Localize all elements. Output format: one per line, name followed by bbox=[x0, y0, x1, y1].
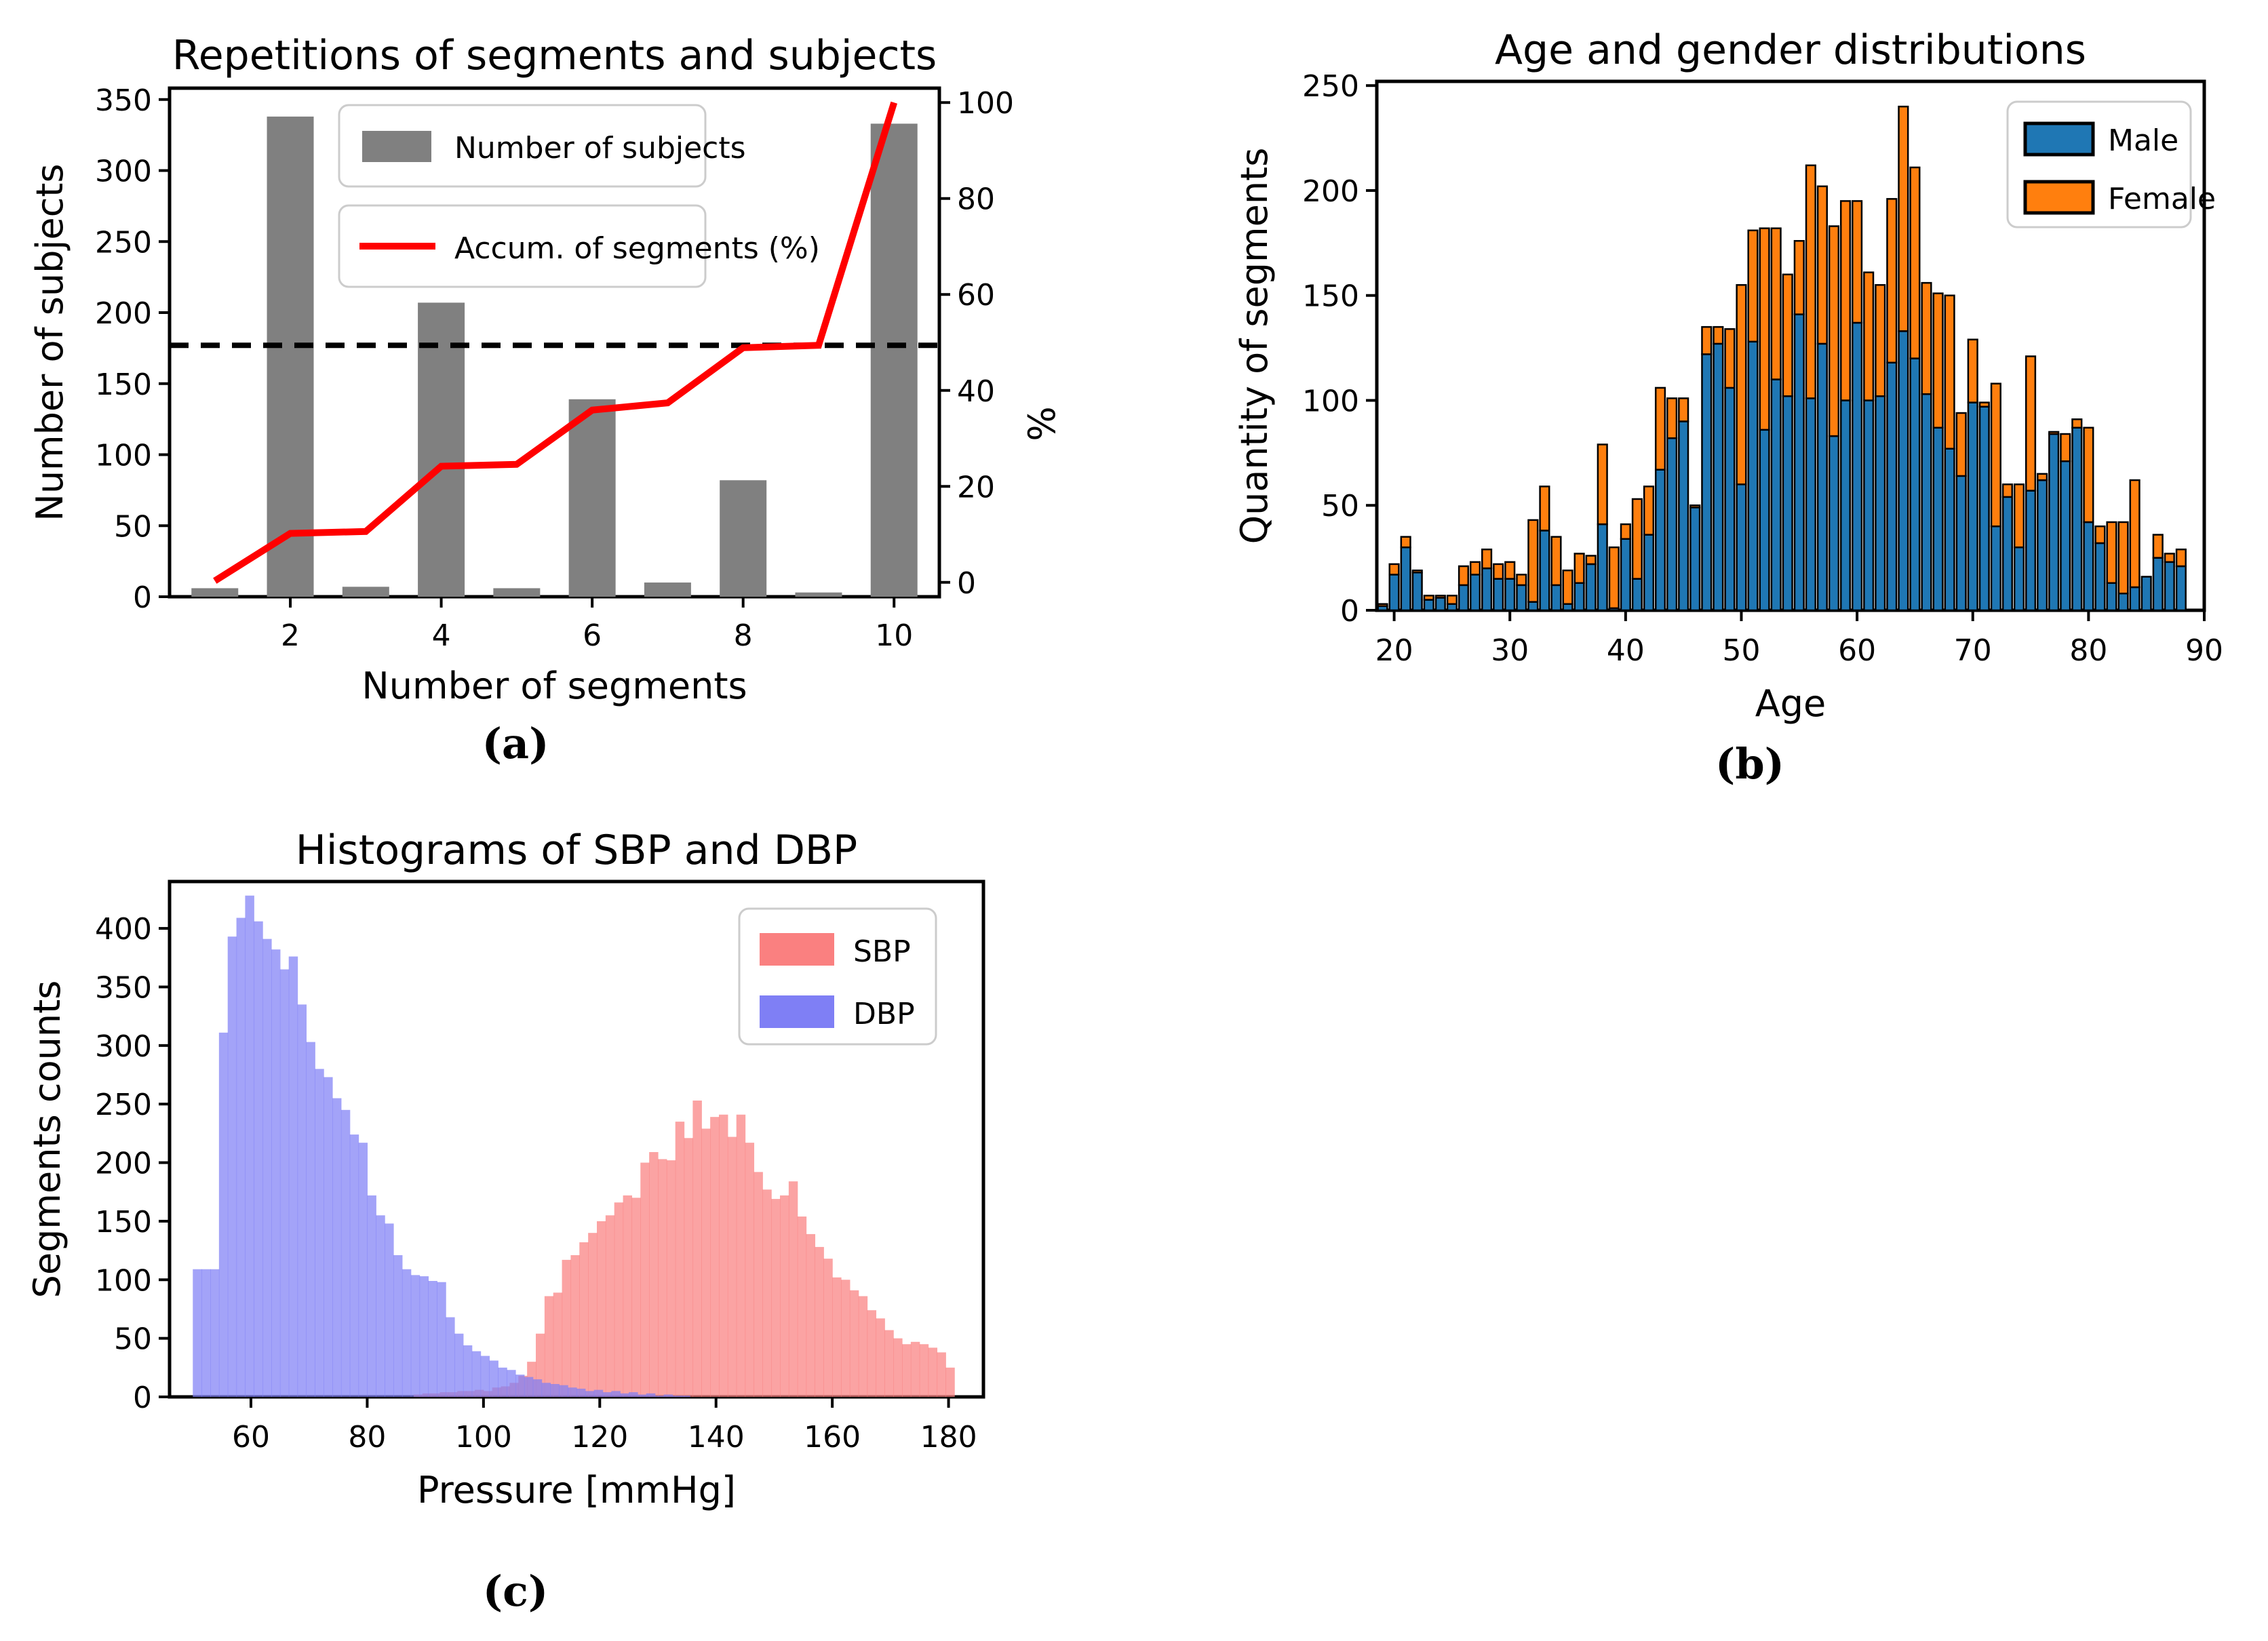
bar-male bbox=[1748, 342, 1758, 610]
y2-tick-label: 80 bbox=[957, 182, 995, 217]
hist-bin-sbp bbox=[762, 1189, 771, 1397]
bar-female bbox=[1690, 505, 1700, 507]
hist-bin-dbp bbox=[332, 1099, 341, 1397]
panel-c-svg: Histograms of SBP and DBP608010012014016… bbox=[0, 800, 1099, 1641]
x-tick-label: 120 bbox=[571, 1420, 628, 1455]
hist-bin-dbp bbox=[603, 1392, 612, 1397]
bar-female bbox=[2176, 549, 2186, 566]
bar-female bbox=[2014, 484, 2024, 547]
bar-female bbox=[1841, 201, 1850, 400]
legend-swatch-subjects bbox=[362, 131, 431, 162]
bar-female bbox=[1772, 229, 1781, 380]
bar-male bbox=[2014, 547, 2024, 610]
hist-bin-dbp bbox=[359, 1143, 368, 1397]
x-tick-label: 160 bbox=[804, 1420, 861, 1455]
hist-bin-dbp bbox=[271, 949, 280, 1397]
bar-male bbox=[1540, 530, 1550, 610]
bar-female bbox=[2037, 474, 2047, 480]
hist-bin-sbp bbox=[859, 1296, 867, 1397]
bar-female bbox=[1980, 403, 1989, 407]
hist-bin-sbp bbox=[728, 1137, 737, 1397]
hist-bin-dbp bbox=[437, 1282, 446, 1397]
bar-female bbox=[1529, 520, 1538, 602]
panel-b-xlabel: Age bbox=[1755, 682, 1826, 725]
hist-bin-dbp bbox=[524, 1377, 533, 1397]
hist-bin-dbp bbox=[620, 1393, 629, 1397]
bar-male bbox=[1911, 359, 1920, 610]
bar-male bbox=[1945, 449, 1955, 610]
bar-subjects bbox=[493, 588, 540, 597]
y2-tick-label: 20 bbox=[957, 470, 995, 505]
hist-bin-dbp bbox=[350, 1134, 359, 1397]
panel-c-legend-label-1: DBP bbox=[853, 997, 915, 1031]
bar-male bbox=[1390, 574, 1399, 610]
bar-male bbox=[1702, 354, 1711, 610]
hist-bin-dbp bbox=[262, 939, 271, 1397]
bar-female bbox=[1725, 329, 1735, 388]
hist-bin-sbp bbox=[570, 1255, 579, 1397]
bar-female bbox=[2096, 526, 2105, 543]
panel-b-ylabel: Quantity of segments bbox=[1233, 148, 1276, 545]
bar-male bbox=[1772, 380, 1781, 610]
bar-male bbox=[2060, 461, 2070, 610]
x-tick-label: 60 bbox=[1838, 633, 1876, 668]
bar-female bbox=[1945, 296, 1955, 449]
bar-female bbox=[1598, 444, 1607, 524]
hist-bin-dbp bbox=[402, 1269, 411, 1397]
panel-a-y2label: % bbox=[1021, 406, 1063, 441]
bar-female bbox=[2165, 553, 2174, 561]
bar-male bbox=[1424, 600, 1434, 610]
hist-bin-dbp bbox=[228, 936, 237, 1397]
bar-male bbox=[2096, 543, 2105, 610]
bar-male bbox=[1447, 604, 1457, 610]
bar-female bbox=[1436, 595, 1445, 597]
x-tick-label: 180 bbox=[920, 1420, 977, 1455]
bar-female bbox=[1806, 165, 1816, 399]
bar-male bbox=[1829, 436, 1839, 610]
y-tick-label: 200 bbox=[95, 1147, 152, 1181]
bar-male bbox=[1968, 403, 1978, 610]
bar-male bbox=[1934, 428, 1943, 610]
hist-bin-dbp bbox=[489, 1360, 498, 1397]
bar-female bbox=[1922, 283, 1932, 394]
hist-bin-dbp bbox=[193, 1269, 201, 1397]
bar-female bbox=[1818, 186, 1827, 344]
bar-male bbox=[1737, 484, 1746, 610]
bar-male bbox=[2142, 576, 2151, 610]
panel-a-svg: Repetitions of segments and subjects2468… bbox=[0, 0, 1099, 800]
bar-female bbox=[1401, 537, 1411, 547]
hist-bin-sbp bbox=[876, 1318, 884, 1397]
bar-male bbox=[1887, 363, 1896, 610]
bar-male bbox=[1656, 470, 1665, 610]
bar-female bbox=[1957, 413, 1966, 476]
hist-bin-dbp bbox=[559, 1385, 568, 1397]
bar-male bbox=[1482, 568, 1491, 610]
hist-bin-sbp bbox=[806, 1234, 815, 1397]
bar-subjects bbox=[569, 399, 616, 597]
hist-bin-sbp bbox=[867, 1310, 876, 1397]
y-tick-label: 100 bbox=[1302, 384, 1359, 418]
hist-bin-sbp bbox=[945, 1368, 954, 1397]
hist-bin-sbp bbox=[754, 1172, 762, 1397]
hist-bin-sbp bbox=[614, 1202, 623, 1397]
bar-female bbox=[1575, 553, 1584, 582]
hist-bin-sbp bbox=[780, 1195, 789, 1397]
bar-subjects bbox=[644, 582, 691, 597]
hist-bin-dbp bbox=[672, 1396, 681, 1397]
bar-male bbox=[1552, 585, 1561, 610]
x-tick-label: 2 bbox=[281, 618, 300, 653]
hist-bin-sbp bbox=[928, 1347, 937, 1397]
y-tick-label: 100 bbox=[95, 1263, 152, 1298]
hist-bin-dbp bbox=[280, 970, 289, 1397]
bar-male bbox=[2130, 587, 2140, 610]
panel-b-svg: Age and gender distributions203040506070… bbox=[1194, 0, 2268, 848]
y-tick-label: 150 bbox=[95, 368, 152, 402]
y-tick-label: 350 bbox=[95, 83, 152, 118]
hist-bin-dbp bbox=[550, 1384, 559, 1397]
hist-bin-sbp bbox=[692, 1101, 701, 1397]
hist-bin-sbp bbox=[815, 1247, 823, 1397]
panel-a-ylabel: Number of subjects bbox=[28, 163, 71, 521]
panel-c-title: Histograms of SBP and DBP bbox=[296, 827, 858, 874]
hist-bin-sbp bbox=[579, 1242, 588, 1397]
bar-male bbox=[1852, 323, 1862, 610]
bar-female bbox=[2003, 484, 2012, 497]
hist-bin-dbp bbox=[411, 1275, 420, 1397]
hist-bin-sbp bbox=[640, 1163, 649, 1397]
bar-female bbox=[1482, 549, 1491, 568]
legend-swatch-sbp bbox=[760, 933, 834, 966]
bar-male bbox=[2176, 566, 2186, 610]
hist-bin-dbp bbox=[446, 1318, 454, 1397]
bar-female bbox=[2107, 522, 2117, 583]
bar-female bbox=[1934, 294, 1943, 428]
x-tick-label: 80 bbox=[348, 1420, 386, 1455]
hist-bin-sbp bbox=[562, 1260, 571, 1397]
hist-bin-sbp bbox=[701, 1128, 710, 1397]
bar-male bbox=[1644, 535, 1654, 610]
x-tick-label: 8 bbox=[734, 618, 753, 653]
bar-subjects bbox=[267, 117, 314, 597]
bar-female bbox=[1968, 340, 1978, 403]
bar-male bbox=[1598, 524, 1607, 610]
panel-b-title: Age and gender distributions bbox=[1495, 26, 2086, 74]
bar-female bbox=[1748, 231, 1758, 342]
bar-male bbox=[1459, 585, 1468, 610]
x-tick-label: 70 bbox=[1954, 633, 1992, 668]
bar-female bbox=[1679, 398, 1688, 421]
bar-male bbox=[1436, 597, 1445, 610]
bar-male bbox=[2026, 491, 2035, 610]
panel-caption-c: (c) bbox=[448, 1566, 583, 1616]
panel-a-legend-label-1: Accum. of segments (%) bbox=[454, 231, 820, 266]
bar-male bbox=[2049, 434, 2058, 610]
hist-bin-sbp bbox=[902, 1344, 911, 1397]
bar-male bbox=[1922, 394, 1932, 610]
y2-tick-label: 60 bbox=[957, 278, 995, 313]
bar-male bbox=[1806, 398, 1816, 610]
panel-c-xlabel: Pressure [mmHg] bbox=[417, 1469, 736, 1511]
chart-panel-a: Repetitions of segments and subjects2468… bbox=[0, 0, 1099, 800]
panel-b-legend-label-1: Female bbox=[2108, 182, 2216, 216]
hist-bin-dbp bbox=[638, 1395, 646, 1397]
bar-male bbox=[2037, 480, 2047, 610]
bar-subjects bbox=[343, 587, 389, 597]
bar-female bbox=[1621, 524, 1630, 539]
hist-bin-dbp bbox=[576, 1389, 585, 1397]
bar-female bbox=[1783, 275, 1793, 397]
hist-bin-sbp bbox=[937, 1352, 945, 1397]
bar-female bbox=[1667, 398, 1677, 438]
hist-bin-sbp bbox=[832, 1278, 841, 1397]
bar-female bbox=[1737, 285, 1746, 484]
y-tick-label: 0 bbox=[133, 580, 152, 615]
bar-male bbox=[2072, 428, 2081, 610]
bar-female bbox=[2072, 419, 2081, 427]
y-tick-label: 250 bbox=[1302, 69, 1359, 104]
bar-subjects bbox=[871, 123, 918, 597]
chart-panel-b: Age and gender distributions203040506070… bbox=[1194, 0, 2268, 848]
x-tick-label: 140 bbox=[688, 1420, 745, 1455]
bar-male bbox=[1841, 400, 1850, 610]
bar-female bbox=[1829, 226, 1839, 437]
bar-female bbox=[1586, 556, 1596, 564]
hist-bin-dbp bbox=[515, 1375, 524, 1397]
hist-bin-dbp bbox=[454, 1334, 463, 1397]
y-tick-label: 50 bbox=[1321, 489, 1359, 523]
bar-female bbox=[1644, 486, 1654, 534]
y-tick-label: 300 bbox=[95, 1029, 152, 1064]
y-tick-label: 0 bbox=[1340, 594, 1359, 629]
bar-male bbox=[1957, 476, 1966, 610]
bar-female bbox=[2130, 480, 2140, 587]
hist-bin-dbp bbox=[237, 918, 246, 1397]
y2-tick-label: 0 bbox=[957, 566, 976, 601]
bar-male bbox=[1575, 583, 1584, 610]
hist-bin-dbp bbox=[498, 1368, 507, 1397]
bar-male bbox=[1679, 421, 1688, 610]
x-tick-label: 50 bbox=[1722, 633, 1760, 668]
bar-male bbox=[1621, 539, 1630, 610]
bar-male bbox=[2153, 558, 2163, 610]
hist-bin-sbp bbox=[658, 1159, 667, 1397]
hist-bin-dbp bbox=[664, 1395, 673, 1397]
figure-root: Repetitions of segments and subjects2468… bbox=[0, 0, 2268, 1641]
x-tick-label: 10 bbox=[875, 618, 913, 653]
hist-bin-dbp bbox=[420, 1276, 429, 1397]
hist-bin-sbp bbox=[719, 1115, 728, 1397]
hist-bin-dbp bbox=[481, 1356, 490, 1397]
bar-female bbox=[1424, 595, 1434, 599]
y-tick-label: 150 bbox=[95, 1205, 152, 1240]
bar-male bbox=[1875, 396, 1885, 610]
hist-bin-dbp bbox=[585, 1391, 594, 1397]
bar-male bbox=[1401, 547, 1411, 610]
bar-male bbox=[1517, 585, 1526, 610]
x-tick-label: 60 bbox=[232, 1420, 270, 1455]
hist-bin-dbp bbox=[646, 1393, 655, 1397]
hist-bin-sbp bbox=[798, 1217, 806, 1397]
hist-bin-sbp bbox=[649, 1152, 658, 1397]
bar-female bbox=[2119, 522, 2128, 593]
bar-male bbox=[1563, 604, 1573, 610]
legend-swatch-female bbox=[2025, 182, 2093, 213]
x-tick-label: 40 bbox=[1607, 633, 1645, 668]
hist-bin-dbp bbox=[393, 1255, 402, 1397]
bar-male bbox=[1795, 315, 1804, 610]
hist-bin-dbp bbox=[568, 1387, 576, 1397]
hist-bin-sbp bbox=[884, 1330, 893, 1397]
hist-bin-dbp bbox=[245, 896, 254, 1397]
bar-female bbox=[2084, 428, 2094, 522]
hist-bin-sbp bbox=[684, 1138, 693, 1397]
y-tick-label: 50 bbox=[114, 1322, 152, 1357]
x-tick-label: 100 bbox=[455, 1420, 512, 1455]
hist-bin-dbp bbox=[298, 1004, 307, 1397]
bar-female bbox=[1413, 570, 1422, 572]
y-tick-label: 150 bbox=[1302, 279, 1359, 314]
hist-bin-sbp bbox=[771, 1199, 780, 1397]
hist-bin-dbp bbox=[594, 1390, 603, 1397]
y-tick-label: 300 bbox=[95, 155, 152, 189]
hist-bin-sbp bbox=[789, 1181, 798, 1397]
panel-caption-a: (a) bbox=[448, 719, 583, 768]
bar-female bbox=[2049, 432, 2058, 434]
hist-bin-dbp bbox=[376, 1215, 385, 1397]
bar-female bbox=[1609, 547, 1619, 608]
hist-bin-dbp bbox=[210, 1269, 219, 1397]
bar-female bbox=[1459, 566, 1468, 585]
hist-bin-dbp bbox=[507, 1370, 515, 1397]
bar-male bbox=[1760, 430, 1770, 610]
bar-male bbox=[1505, 579, 1514, 610]
hist-bin-dbp bbox=[681, 1396, 690, 1397]
bar-male bbox=[2165, 562, 2174, 610]
panel-a-xlabel: Number of segments bbox=[361, 665, 747, 707]
bar-female bbox=[1887, 199, 1896, 362]
bar-male bbox=[1667, 438, 1677, 610]
panel-a-legend-label-0: Number of subjects bbox=[454, 131, 746, 165]
bar-male bbox=[2003, 497, 2012, 610]
bar-female bbox=[1760, 229, 1770, 430]
bar-female bbox=[1714, 327, 1723, 344]
hist-bin-dbp bbox=[472, 1351, 481, 1397]
hist-bin-sbp bbox=[667, 1160, 676, 1397]
bar-female bbox=[1390, 564, 1399, 574]
bar-male bbox=[1470, 574, 1480, 610]
bar-female bbox=[1795, 241, 1804, 314]
bar-male bbox=[2119, 593, 2128, 610]
bar-male bbox=[1725, 388, 1735, 610]
hist-bin-sbp bbox=[893, 1339, 902, 1397]
bar-female bbox=[1505, 562, 1514, 579]
hist-bin-sbp bbox=[737, 1115, 745, 1397]
hist-bin-dbp bbox=[655, 1396, 664, 1397]
y-tick-label: 400 bbox=[95, 912, 152, 947]
hist-bin-sbp bbox=[841, 1280, 850, 1397]
bar-female bbox=[1632, 499, 1642, 579]
hist-bin-dbp bbox=[201, 1269, 210, 1397]
bar-male bbox=[1632, 579, 1642, 610]
hist-bin-dbp bbox=[385, 1223, 393, 1397]
legend-swatch-dbp bbox=[760, 995, 834, 1028]
y-tick-label: 0 bbox=[133, 1381, 152, 1415]
bar-female bbox=[1864, 273, 1873, 401]
bar-male bbox=[1714, 344, 1723, 610]
hist-bin-dbp bbox=[428, 1281, 437, 1397]
bar-male bbox=[1864, 400, 1873, 610]
y-tick-label: 250 bbox=[95, 1088, 152, 1122]
bar-female bbox=[1911, 167, 1920, 359]
legend-swatch-male bbox=[2025, 123, 2093, 155]
hist-bin-sbp bbox=[545, 1296, 553, 1397]
bar-female bbox=[1470, 562, 1480, 575]
x-tick-label: 90 bbox=[2185, 633, 2223, 668]
bar-female bbox=[1552, 537, 1561, 585]
bar-male bbox=[1818, 344, 1827, 610]
bar-male bbox=[1899, 331, 1909, 610]
bar-female bbox=[2060, 434, 2070, 461]
hist-bin-sbp bbox=[588, 1233, 597, 1397]
panel-c-ylabel: Segments counts bbox=[26, 981, 69, 1299]
bar-female bbox=[1899, 106, 1909, 331]
hist-bin-dbp bbox=[306, 1042, 315, 1397]
hist-bin-dbp bbox=[324, 1077, 332, 1397]
bar-male bbox=[1980, 407, 1989, 610]
bar-male bbox=[1690, 507, 1700, 610]
y-tick-label: 200 bbox=[1302, 174, 1359, 209]
hist-bin-dbp bbox=[289, 957, 298, 1397]
bar-female bbox=[1517, 574, 1526, 585]
x-tick-label: 20 bbox=[1375, 633, 1413, 668]
panel-a-title: Repetitions of segments and subjects bbox=[172, 32, 937, 79]
hist-bin-sbp bbox=[710, 1117, 719, 1397]
bar-male bbox=[1783, 396, 1793, 610]
bar-female bbox=[1447, 595, 1457, 604]
hist-bin-dbp bbox=[611, 1391, 620, 1397]
x-tick-label: 80 bbox=[2069, 633, 2107, 668]
bar-female bbox=[1656, 388, 1665, 470]
y-tick-label: 100 bbox=[95, 439, 152, 473]
hist-bin-dbp bbox=[533, 1379, 542, 1397]
panel-c-legend-label-0: SBP bbox=[853, 934, 911, 969]
bar-female bbox=[2153, 535, 2163, 558]
hist-bin-sbp bbox=[920, 1344, 928, 1397]
chart-panel-c: Histograms of SBP and DBP608010012014016… bbox=[0, 800, 1099, 1641]
hist-bin-sbp bbox=[606, 1215, 614, 1397]
bar-male bbox=[2084, 522, 2094, 610]
bar-female bbox=[2026, 356, 2035, 490]
bar-female bbox=[1378, 604, 1388, 606]
x-tick-label: 30 bbox=[1491, 633, 1529, 668]
bar-female bbox=[1563, 570, 1573, 604]
bar-male bbox=[1586, 564, 1596, 610]
bar-subjects bbox=[191, 588, 238, 597]
hist-bin-sbp bbox=[553, 1292, 562, 1397]
hist-bin-dbp bbox=[254, 922, 262, 1397]
bar-female bbox=[1493, 564, 1503, 579]
bar-male bbox=[1413, 572, 1422, 610]
panel-b-legend-label-0: Male bbox=[2108, 123, 2178, 158]
bar-subjects bbox=[720, 480, 766, 597]
bar-female bbox=[1540, 486, 1550, 530]
hist-bin-sbp bbox=[911, 1342, 920, 1397]
x-tick-label: 6 bbox=[583, 618, 602, 653]
hist-bin-sbp bbox=[850, 1290, 859, 1397]
